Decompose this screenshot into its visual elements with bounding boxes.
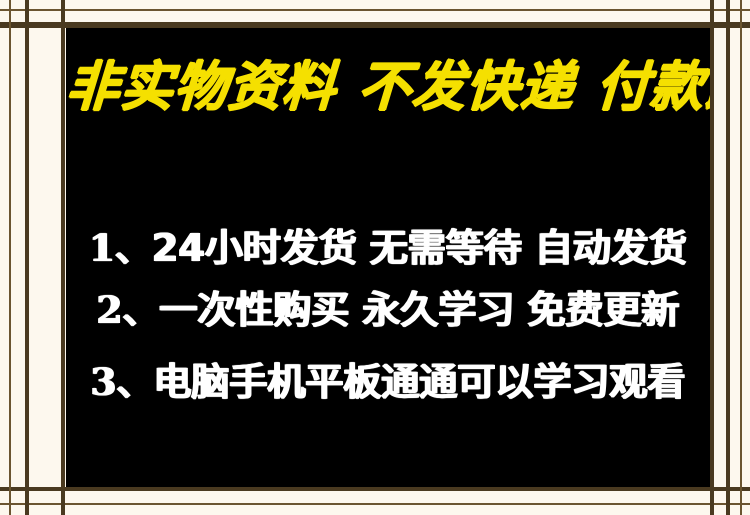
bullet-segment-1-3: 自动发货 [535, 229, 687, 267]
bullet-segment-2-3: 免费更新 [527, 291, 679, 329]
frame-line-left-outer [9, 0, 11, 515]
bullet-segment-1-1: 24小时发货 [152, 229, 357, 267]
frame-line-left-panel-edge [61, 0, 65, 515]
headline-part-3: 付款即看 [594, 56, 710, 118]
frame-line-bottom-outer [0, 503, 750, 505]
frame-line-top-outer [0, 9, 750, 11]
bullet-segment-2-1: 一次性购买 [159, 291, 349, 329]
frame-line-bottom-panel-edge [0, 487, 750, 491]
headline-part-2: 不发快递 [356, 56, 575, 118]
bullet-item-2: 2、一次性购买永久学习免费更新 [66, 280, 710, 340]
promo-banner: 非实物资料不发快递付款即看 1、24小时发货无需等待自动发货 2、一次性购买永久… [0, 0, 750, 515]
bullet-list: 1、24小时发货无需等待自动发货 2、一次性购买永久学习免费更新 3、电脑手机平… [66, 218, 710, 412]
bullet-item-1: 1、24小时发货无需等待自动发货 [66, 218, 710, 278]
content-panel: 非实物资料不发快递付款即看 1、24小时发货无需等待自动发货 2、一次性购买永久… [66, 28, 710, 487]
headline-part-1: 非实物资料 [66, 56, 338, 118]
bullet-segment-3-1: 电脑手机平板通通可以学习观看 [153, 363, 685, 401]
bullet-index-1: 1、 [89, 230, 152, 267]
bullet-segment-2-2: 永久学习 [362, 291, 514, 329]
bullet-segment-1-2: 无需等待 [370, 229, 522, 267]
bullet-index-2: 2、 [97, 292, 160, 329]
frame-line-right-outer [740, 0, 742, 515]
bullet-item-3: 3、电脑手机平板通通可以学习观看 [66, 352, 710, 412]
frame-line-left-mid [25, 0, 29, 515]
frame-line-right-mid [726, 0, 730, 515]
bullet-index-3: 3、 [91, 364, 154, 401]
frame-line-right-panel-edge [710, 0, 714, 515]
headline: 非实物资料不发快递付款即看 [66, 60, 710, 116]
